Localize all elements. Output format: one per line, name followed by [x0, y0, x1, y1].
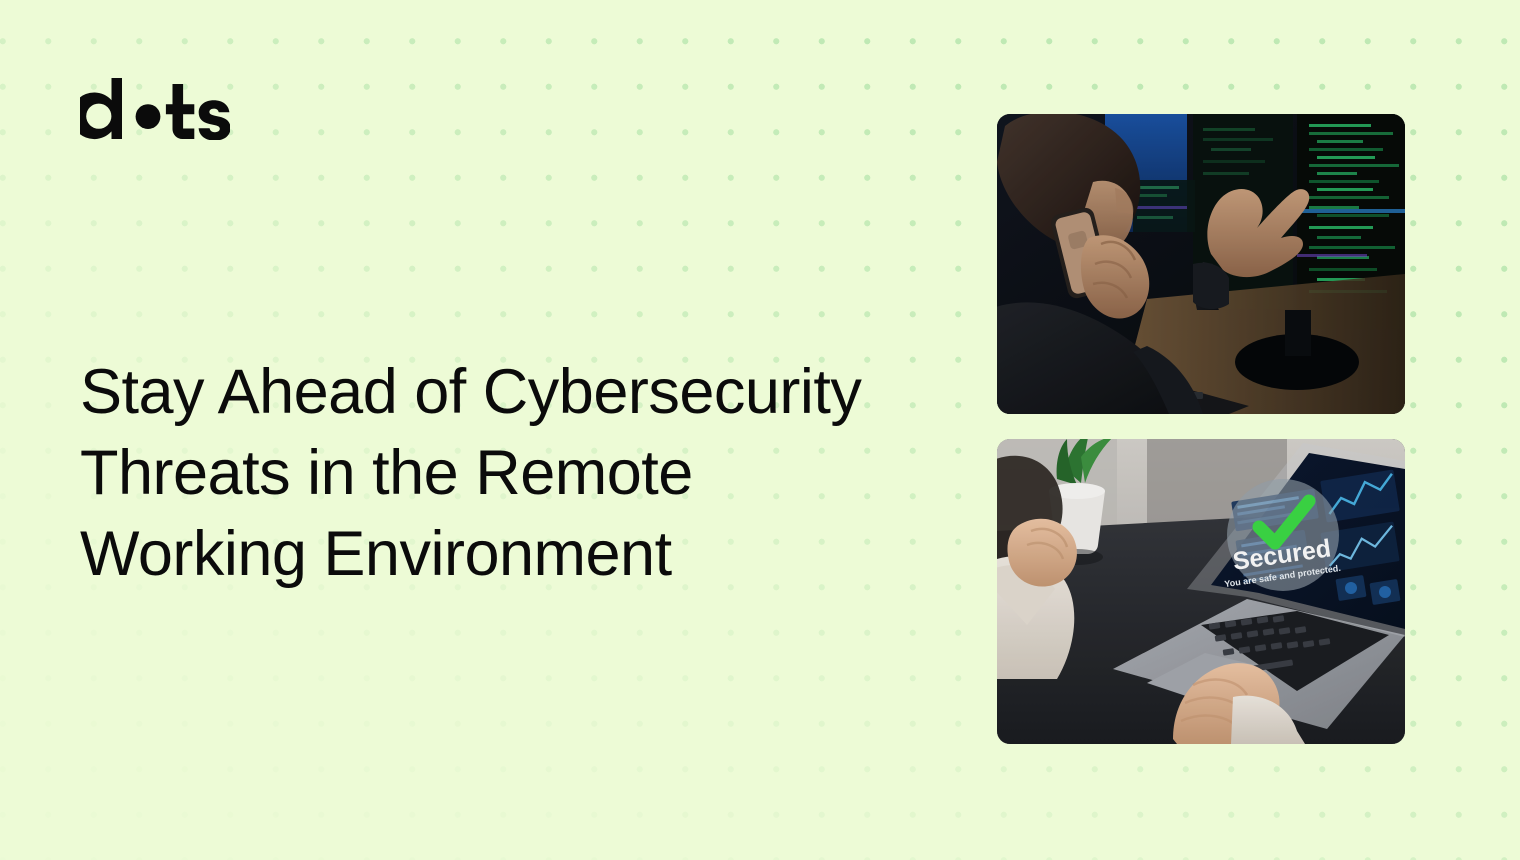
- brand-logo[interactable]: [80, 78, 230, 140]
- hero-image-bottom: Secured You are safe and protected.: [997, 439, 1405, 744]
- headline-line-3: Working Environment: [80, 514, 880, 595]
- headline-line-1: Stay Ahead of Cybersecurity: [80, 352, 880, 433]
- slide-canvas: Stay Ahead of Cybersecurity Threats in t…: [0, 0, 1520, 860]
- dark-office-hacker-photo: [997, 114, 1405, 414]
- remote-worker-laptop-photo: Secured You are safe and protected.: [997, 439, 1405, 744]
- page-title: Stay Ahead of Cybersecurity Threats in t…: [80, 352, 880, 595]
- dots-wordmark-logo: [80, 78, 230, 140]
- hero-image-top: [997, 114, 1405, 414]
- headline-line-2: Threats in the Remote: [80, 433, 880, 514]
